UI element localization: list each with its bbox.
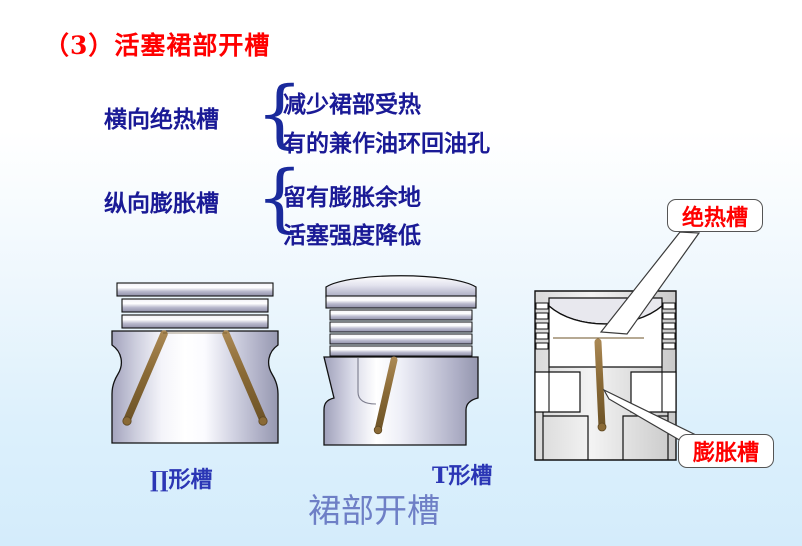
page-title: （3）活塞裙部开槽 (44, 26, 270, 62)
piston-pi-groove (112, 283, 278, 443)
piston-t-groove (324, 276, 478, 445)
piston-section (535, 291, 676, 460)
callout-insulation-groove: 绝热槽 (667, 199, 763, 232)
group-1-item-0: 留有膨胀余地 (283, 178, 421, 212)
caption-t-groove: T形槽 (432, 458, 492, 490)
group-0-item-1: 有的兼作油环回油孔 (283, 124, 490, 158)
group-label-transverse: 横向绝热槽 (104, 100, 219, 134)
slide-canvas: （3）活塞裙部开槽 横向绝热槽 { 减少裙部受热 有的兼作油环回油孔 纵向膨胀槽… (0, 0, 802, 546)
caption-pi-groove: ∏形槽 (150, 462, 213, 494)
group-1-item-1: 活塞强度降低 (283, 216, 421, 250)
group-0-item-0: 减少裙部受热 (283, 85, 421, 119)
group-label-longitudinal: 纵向膨胀槽 (104, 184, 219, 218)
callout-pointer-insulation (601, 232, 699, 334)
caption-skirt-slotting: 裙部开槽 (308, 484, 440, 532)
callout-expansion-groove: 膨胀槽 (678, 434, 774, 468)
